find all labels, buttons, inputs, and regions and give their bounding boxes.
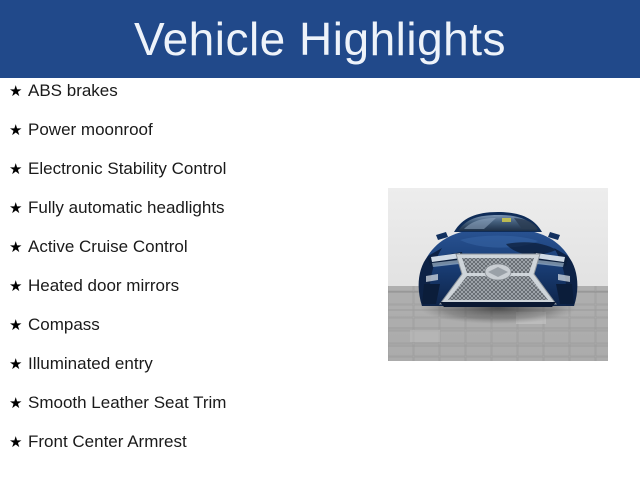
star-bullet-icon: ★: [9, 240, 28, 255]
list-item: ★ Compass: [0, 316, 380, 355]
star-bullet-icon: ★: [9, 123, 28, 138]
page-title: Vehicle Highlights: [124, 16, 516, 62]
list-item-label: Smooth Leather Seat Trim: [28, 394, 380, 411]
list-item: ★ Electronic Stability Control: [0, 160, 380, 199]
list-item-label: Illuminated entry: [28, 355, 380, 372]
vehicle-highlights-list: ★ ABS brakes ★ Power moonroof ★ Electron…: [0, 82, 380, 472]
star-bullet-icon: ★: [9, 201, 28, 216]
list-item: ★ Illuminated entry: [0, 355, 380, 394]
list-item-label: Active Cruise Control: [28, 238, 380, 255]
list-item-label: Electronic Stability Control: [28, 160, 380, 177]
list-item-label: Power moonroof: [28, 121, 380, 138]
list-item-label: ABS brakes: [28, 82, 380, 99]
list-item-label: Compass: [28, 316, 380, 333]
star-bullet-icon: ★: [9, 162, 28, 177]
star-bullet-icon: ★: [9, 396, 28, 411]
star-bullet-icon: ★: [9, 318, 28, 333]
list-item: ★ ABS brakes: [0, 82, 380, 121]
list-item: ★ Smooth Leather Seat Trim: [0, 394, 380, 433]
list-item: ★ Active Cruise Control: [0, 238, 380, 277]
star-bullet-icon: ★: [9, 435, 28, 450]
list-item-label: Fully automatic headlights: [28, 199, 380, 216]
list-item: ★ Front Center Armrest: [0, 433, 380, 472]
star-bullet-icon: ★: [9, 279, 28, 294]
vehicle-photo: [388, 188, 608, 361]
list-item-label: Heated door mirrors: [28, 277, 380, 294]
star-bullet-icon: ★: [9, 357, 28, 372]
list-item: ★ Heated door mirrors: [0, 277, 380, 316]
header-banner: Vehicle Highlights: [0, 0, 640, 78]
star-bullet-icon: ★: [9, 84, 28, 99]
list-item-label: Front Center Armrest: [28, 433, 380, 450]
list-item: ★ Fully automatic headlights: [0, 199, 380, 238]
list-item: ★ Power moonroof: [0, 121, 380, 160]
